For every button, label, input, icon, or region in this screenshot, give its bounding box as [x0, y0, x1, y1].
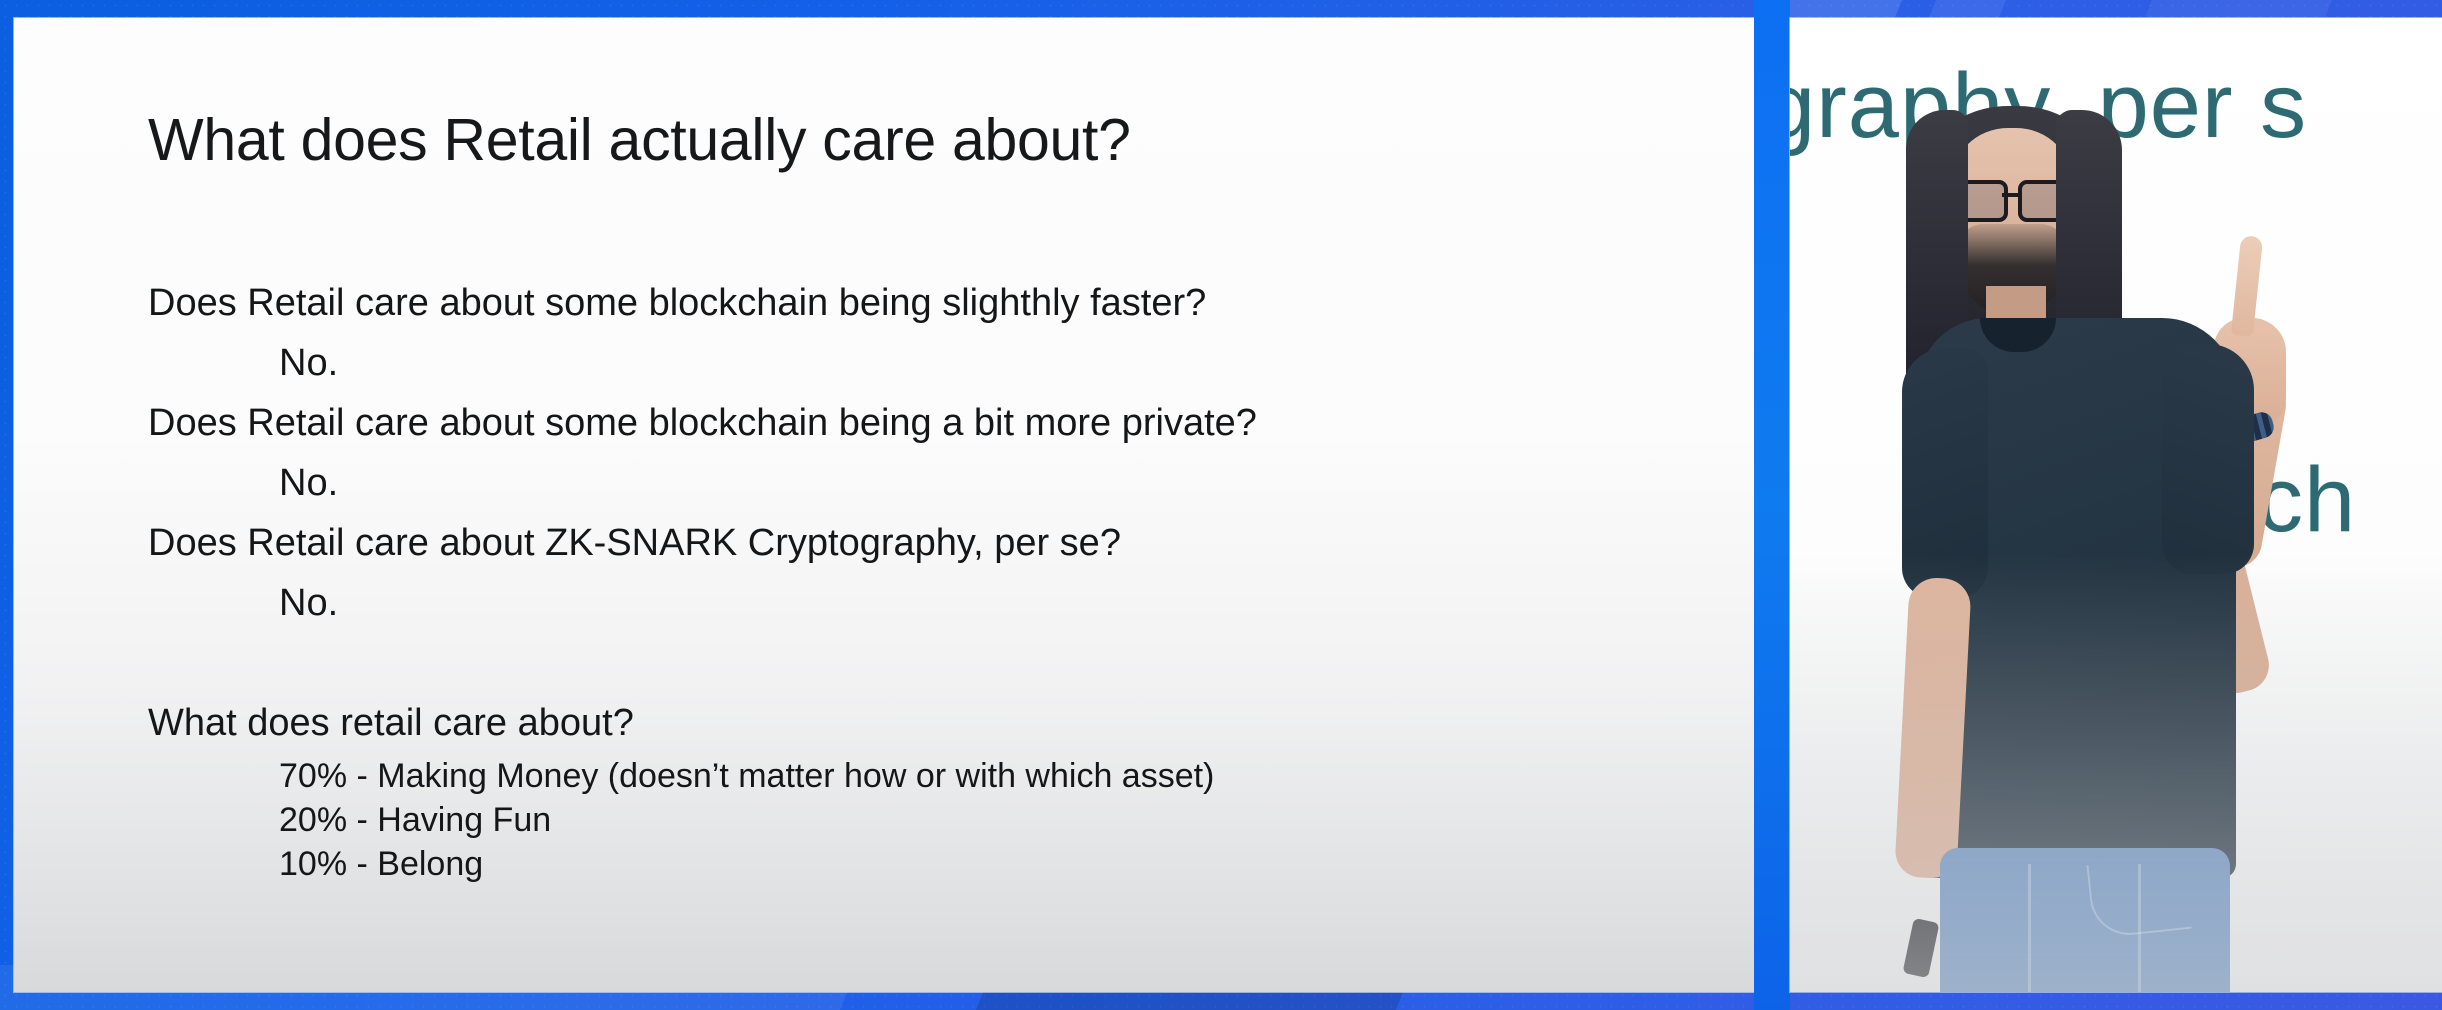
- summary-item: 10% - Belong: [148, 842, 1708, 886]
- jeans-seam: [2028, 864, 2031, 992]
- answer-line: No.: [148, 333, 1708, 393]
- answer-line: No.: [148, 453, 1708, 513]
- broadcast-stage: What does Retail actually care about? Do…: [0, 0, 2442, 1010]
- slide-panel[interactable]: What does Retail actually care about? Do…: [14, 18, 1754, 992]
- question-answer-block: Does Retail care about some blockchain b…: [148, 273, 1708, 633]
- speaker-figure: [1790, 18, 2442, 992]
- panel-divider: [1754, 0, 1790, 1010]
- speaker-sleeve-right: [2162, 344, 2254, 574]
- question-line: Does Retail care about ZK-SNARK Cryptogr…: [148, 513, 1708, 573]
- summary-item: 20% - Having Fun: [148, 798, 1708, 842]
- summary-item: 70% - Making Money (doesn’t matter how o…: [148, 754, 1708, 798]
- speaker-sleeve-left: [1902, 348, 1988, 598]
- slide-content: What does Retail actually care about? Do…: [14, 18, 1754, 992]
- answer-line: No.: [148, 573, 1708, 633]
- slide-title: What does Retail actually care about?: [148, 106, 1131, 174]
- summary-block: What does retail care about? 70% - Makin…: [148, 693, 1708, 886]
- presentation-clicker: [1902, 918, 1939, 978]
- summary-heading: What does retail care about?: [148, 693, 1708, 754]
- speaker-video-panel[interactable]: graphy, per s which: [1790, 18, 2442, 992]
- question-line: Does Retail care about some blockchain b…: [148, 393, 1708, 453]
- question-line: Does Retail care about some blockchain b…: [148, 273, 1708, 333]
